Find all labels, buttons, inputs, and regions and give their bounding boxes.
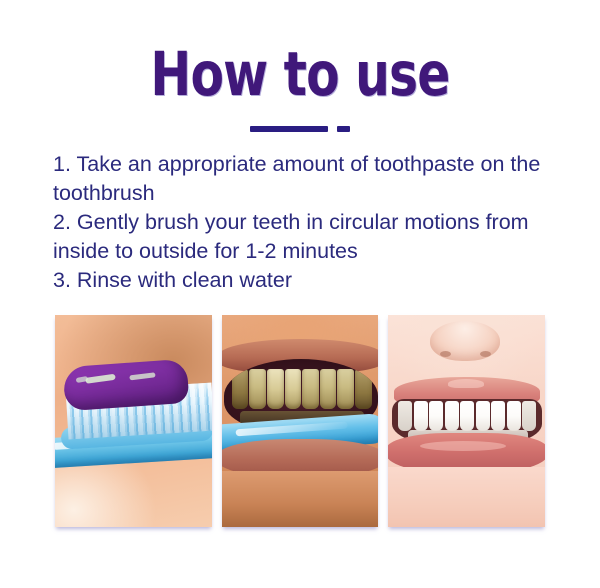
page-title: How to use — [60, 44, 540, 106]
photo-brushing-stained-teeth — [222, 315, 379, 527]
step-line-2: toothbrush — [53, 179, 568, 208]
tooth — [302, 369, 319, 409]
tooth — [476, 401, 490, 431]
tooth — [249, 369, 266, 409]
tooth — [398, 401, 412, 431]
tooth — [522, 401, 536, 431]
tooth — [285, 369, 302, 409]
divider-gap — [328, 126, 337, 132]
divider-long-bar — [250, 126, 328, 132]
how-to-use-banner: How to use 1. Take an appropriate amount… — [0, 0, 600, 588]
step-line-4: inside to outside for 1-2 minutes — [53, 237, 568, 266]
photo-white-smile-result — [388, 315, 545, 527]
divider-short-dash — [337, 126, 350, 132]
tooth — [429, 401, 443, 431]
stained-teeth-row — [232, 369, 372, 409]
tooth — [232, 369, 249, 409]
tooth — [460, 401, 474, 431]
tooth — [445, 401, 459, 431]
tooth — [491, 401, 505, 431]
step-line-5: 3. Rinse with clean water — [53, 266, 568, 295]
step-line-3: 2. Gently brush your teeth in circular m… — [53, 208, 568, 237]
tooth — [320, 369, 337, 409]
tooth — [337, 369, 354, 409]
tooth — [507, 401, 521, 431]
photo-row — [55, 315, 545, 527]
title-divider — [0, 126, 600, 132]
tooth — [414, 401, 428, 431]
purple-toothpaste-blob — [63, 359, 190, 412]
tooth — [355, 369, 372, 409]
chin — [388, 467, 545, 527]
photo-toothbrush-with-toothpaste — [55, 315, 212, 527]
white-teeth-row — [398, 401, 536, 431]
chin — [222, 471, 379, 527]
steps-list: 1. Take an appropriate amount of toothpa… — [53, 150, 568, 295]
title-block: How to use — [0, 44, 600, 106]
tooth — [267, 369, 284, 409]
step-line-1: 1. Take an appropriate amount of toothpa… — [53, 150, 568, 179]
